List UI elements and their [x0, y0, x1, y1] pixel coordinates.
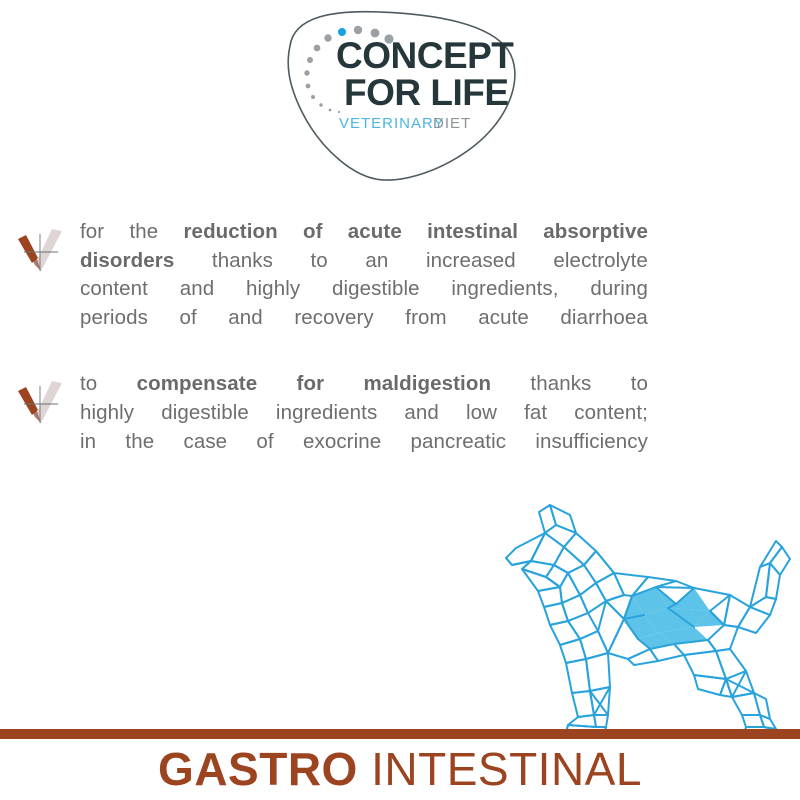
- footer-divider-rule: [0, 729, 800, 739]
- benefit-icon-cell: [0, 218, 80, 275]
- benefit-line: forthereductionofacuteintestinalabsorpti…: [80, 218, 648, 247]
- low-poly-dog-illustration: [498, 503, 800, 736]
- benefit-item: tocompensateformaldigestionthanksto high…: [0, 370, 800, 456]
- benefit-list: forthereductionofacuteintestinalabsorpti…: [0, 218, 800, 456]
- logo-tagline-secondary: DIET: [433, 115, 471, 132]
- benefit-line: contentandhighlydigestibleingredients,du…: [80, 275, 648, 304]
- benefit-line: periodsofandrecoveryfromacutediarrhoea: [80, 304, 648, 333]
- logo-tagline-primary: VETERINARY: [339, 115, 445, 132]
- benefit-icon-cell: [0, 370, 80, 427]
- logo-line-2: FOR LIFE: [344, 72, 509, 113]
- benefit-line: highlydigestibleingredientsandlowfatcont…: [80, 399, 648, 428]
- benefit-text: tocompensateformaldigestionthanksto high…: [80, 370, 648, 456]
- benefit-line: inthecaseofexocrinepancreaticinsufficien…: [80, 428, 648, 457]
- check-mark-icon: [14, 377, 66, 427]
- product-line-title-bold: GASTRO: [158, 743, 358, 795]
- logo-line-1: CONCEPT: [336, 35, 514, 76]
- benefit-line: disordersthankstoanincreasedelectrolyte: [80, 247, 648, 276]
- benefit-line: tocompensateformaldigestionthanksto: [80, 370, 648, 399]
- product-line-title: GASTRO INTESTINAL: [0, 741, 800, 797]
- product-info-panel: CONCEPT FOR LIFE VETERINARY DIET: [0, 0, 800, 800]
- brand-logo-svg: CONCEPT FOR LIFE VETERINARY DIET: [276, 8, 526, 183]
- check-mark-icon: [14, 225, 66, 275]
- brand-logo: CONCEPT FOR LIFE VETERINARY DIET: [276, 8, 526, 183]
- dog-illustration-svg: [498, 503, 800, 736]
- benefit-text: forthereductionofacuteintestinalabsorpti…: [80, 218, 648, 332]
- product-line-title-light: INTESTINAL: [371, 743, 642, 795]
- benefit-item: forthereductionofacuteintestinalabsorpti…: [0, 218, 800, 332]
